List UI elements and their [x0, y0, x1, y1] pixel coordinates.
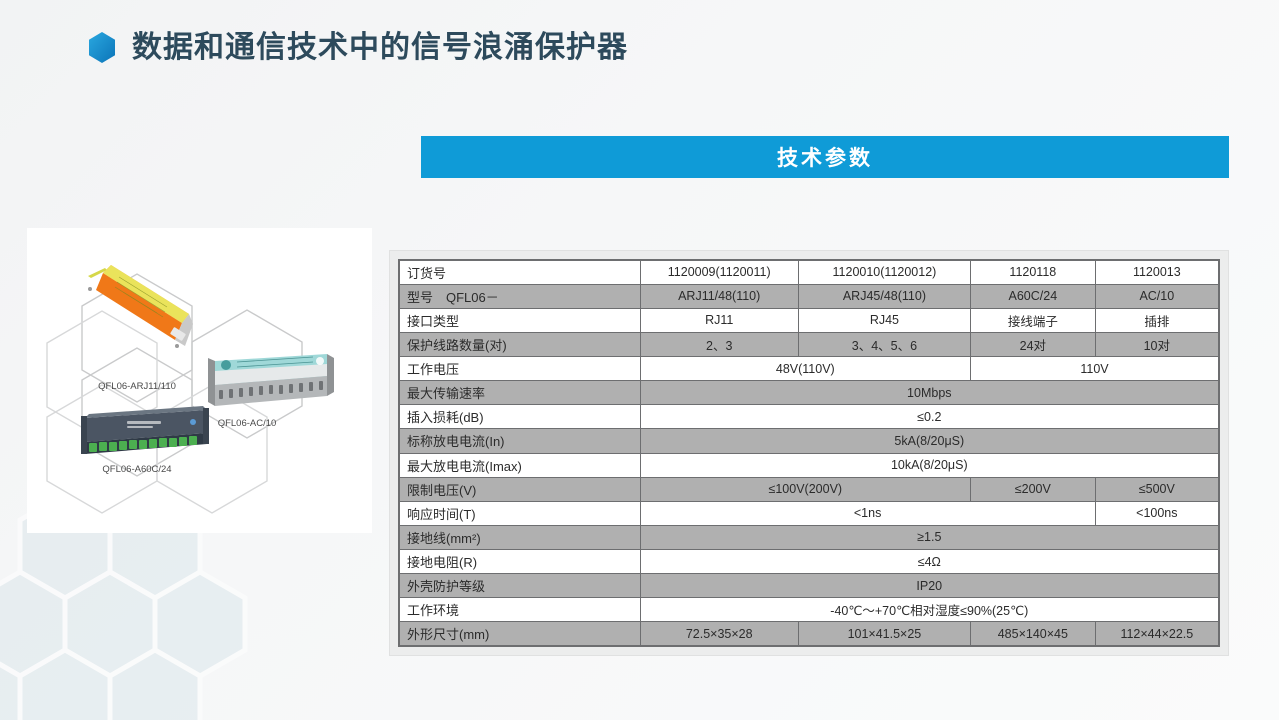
table-row: 最大传输速率10Mbps	[399, 381, 1219, 405]
table-row: 接口类型RJ11RJ45接线端子插排	[399, 308, 1219, 332]
orange-surge-protector-image	[88, 265, 193, 348]
table-cell: 1120010(1120012)	[798, 260, 970, 284]
row-label: 接地线(mm²)	[399, 525, 640, 549]
product-caption-3: QFL06-A60C/24	[102, 464, 171, 475]
table-cell: ≤200V	[971, 477, 1096, 501]
table-cell: 2、3	[640, 332, 798, 356]
table-row: 订货号1120009(1120011)1120010(1120012)11201…	[399, 260, 1219, 284]
table-row: 限制电压(V)≤100V(200V)≤200V≤500V	[399, 477, 1219, 501]
table-row: 标称放电电流(In)5kA(8/20μS)	[399, 429, 1219, 453]
section-banner: 技术参数	[421, 136, 1229, 178]
table-cell: 接线端子	[971, 308, 1096, 332]
table-cell: 24对	[971, 332, 1096, 356]
table-cell: 485×140×45	[971, 622, 1096, 646]
row-label: 订货号	[399, 260, 640, 284]
table-cell: 72.5×35×28	[640, 622, 798, 646]
table-cell: 5kA(8/20μS)	[640, 429, 1219, 453]
table-cell: ARJ45/48(110)	[798, 284, 970, 308]
table-cell: 1120118	[971, 260, 1096, 284]
table-cell: ≤4Ω	[640, 550, 1219, 574]
hexagon-icon	[88, 32, 116, 63]
table-cell: 1120009(1120011)	[640, 260, 798, 284]
row-label: 限制电压(V)	[399, 477, 640, 501]
table-cell: AC/10	[1095, 284, 1219, 308]
table-cell: ≥1.5	[640, 525, 1219, 549]
table-row: 接地线(mm²)≥1.5	[399, 525, 1219, 549]
table-cell: 10kA(8/20μS)	[640, 453, 1219, 477]
spec-table: 订货号1120009(1120011)1120010(1120012)11201…	[398, 259, 1220, 647]
row-label: 型号 QFL06－	[399, 284, 640, 308]
table-row: 最大放电电流(Imax)10kA(8/20μS)	[399, 453, 1219, 477]
page-title-row: 数据和通信技术中的信号浪涌保护器	[88, 32, 628, 63]
row-label: 外形尺寸(mm)	[399, 622, 640, 646]
table-cell: -40℃～+70℃相对湿度≤90%(25℃)	[640, 598, 1219, 622]
table-row: 外壳防护等级IP20	[399, 574, 1219, 598]
table-row: 型号 QFL06－ARJ11/48(110)ARJ45/48(110)A60C/…	[399, 284, 1219, 308]
row-label: 最大传输速率	[399, 381, 640, 405]
table-cell: A60C/24	[971, 284, 1096, 308]
row-label: 保护线路数量(对)	[399, 332, 640, 356]
table-cell: 101×41.5×25	[798, 622, 970, 646]
row-label: 响应时间(T)	[399, 501, 640, 525]
row-label: 标称放电电流(In)	[399, 429, 640, 453]
spec-table-frame: 订货号1120009(1120011)1120010(1120012)11201…	[389, 250, 1229, 656]
product-hexagon-diagram: QFL06-ARJ11/110 QFL06-AC/10 QFL06-A60C/2…	[27, 228, 372, 533]
table-cell: ≤100V(200V)	[640, 477, 970, 501]
row-label: 接口类型	[399, 308, 640, 332]
table-cell: 112×44×22.5	[1095, 622, 1219, 646]
table-cell: 10Mbps	[640, 381, 1219, 405]
table-row: 保护线路数量(对)2、33、4、5、624对10对	[399, 332, 1219, 356]
table-cell: RJ11	[640, 308, 798, 332]
table-row: 工作环境-40℃～+70℃相对湿度≤90%(25℃)	[399, 598, 1219, 622]
row-label: 接地电阻(R)	[399, 550, 640, 574]
product-caption-2: QFL06-AC/10	[218, 418, 277, 429]
row-label: 插入损耗(dB)	[399, 405, 640, 429]
table-cell: 10对	[1095, 332, 1219, 356]
rack-mount-unit-image	[81, 406, 209, 454]
product-caption-1: QFL06-ARJ11/110	[98, 381, 176, 392]
table-cell: 3、4、5、6	[798, 332, 970, 356]
table-cell: 1120013	[1095, 260, 1219, 284]
table-cell: 插排	[1095, 308, 1219, 332]
row-label: 外壳防护等级	[399, 574, 640, 598]
table-cell: ARJ11/48(110)	[640, 284, 798, 308]
table-row: 接地电阻(R)≤4Ω	[399, 550, 1219, 574]
row-label: 工作环境	[399, 598, 640, 622]
table-cell: <1ns	[640, 501, 1095, 525]
table-cell: ≤0.2	[640, 405, 1219, 429]
section-banner-label: 技术参数	[777, 142, 873, 172]
product-image-panel: QFL06-ARJ11/110 QFL06-AC/10 QFL06-A60C/2…	[27, 228, 372, 533]
table-cell: 110V	[971, 357, 1219, 381]
table-cell: ≤500V	[1095, 477, 1219, 501]
row-label: 工作电压	[399, 357, 640, 381]
slide-canvas: 数据和通信技术中的信号浪涌保护器 技术参数	[0, 0, 1279, 720]
table-row: 响应时间(T)<1ns<100ns	[399, 501, 1219, 525]
table-row: 工作电压48V(110V)110V	[399, 357, 1219, 381]
table-cell: RJ45	[798, 308, 970, 332]
table-cell: <100ns	[1095, 501, 1219, 525]
table-cell: IP20	[640, 574, 1219, 598]
teal-terminal-block-image	[208, 354, 334, 406]
table-row: 插入损耗(dB)≤0.2	[399, 405, 1219, 429]
table-cell: 48V(110V)	[640, 357, 970, 381]
table-row: 外形尺寸(mm)72.5×35×28101×41.5×25485×140×451…	[399, 622, 1219, 646]
row-label: 最大放电电流(Imax)	[399, 453, 640, 477]
page-title: 数据和通信技术中的信号浪涌保护器	[132, 33, 628, 63]
